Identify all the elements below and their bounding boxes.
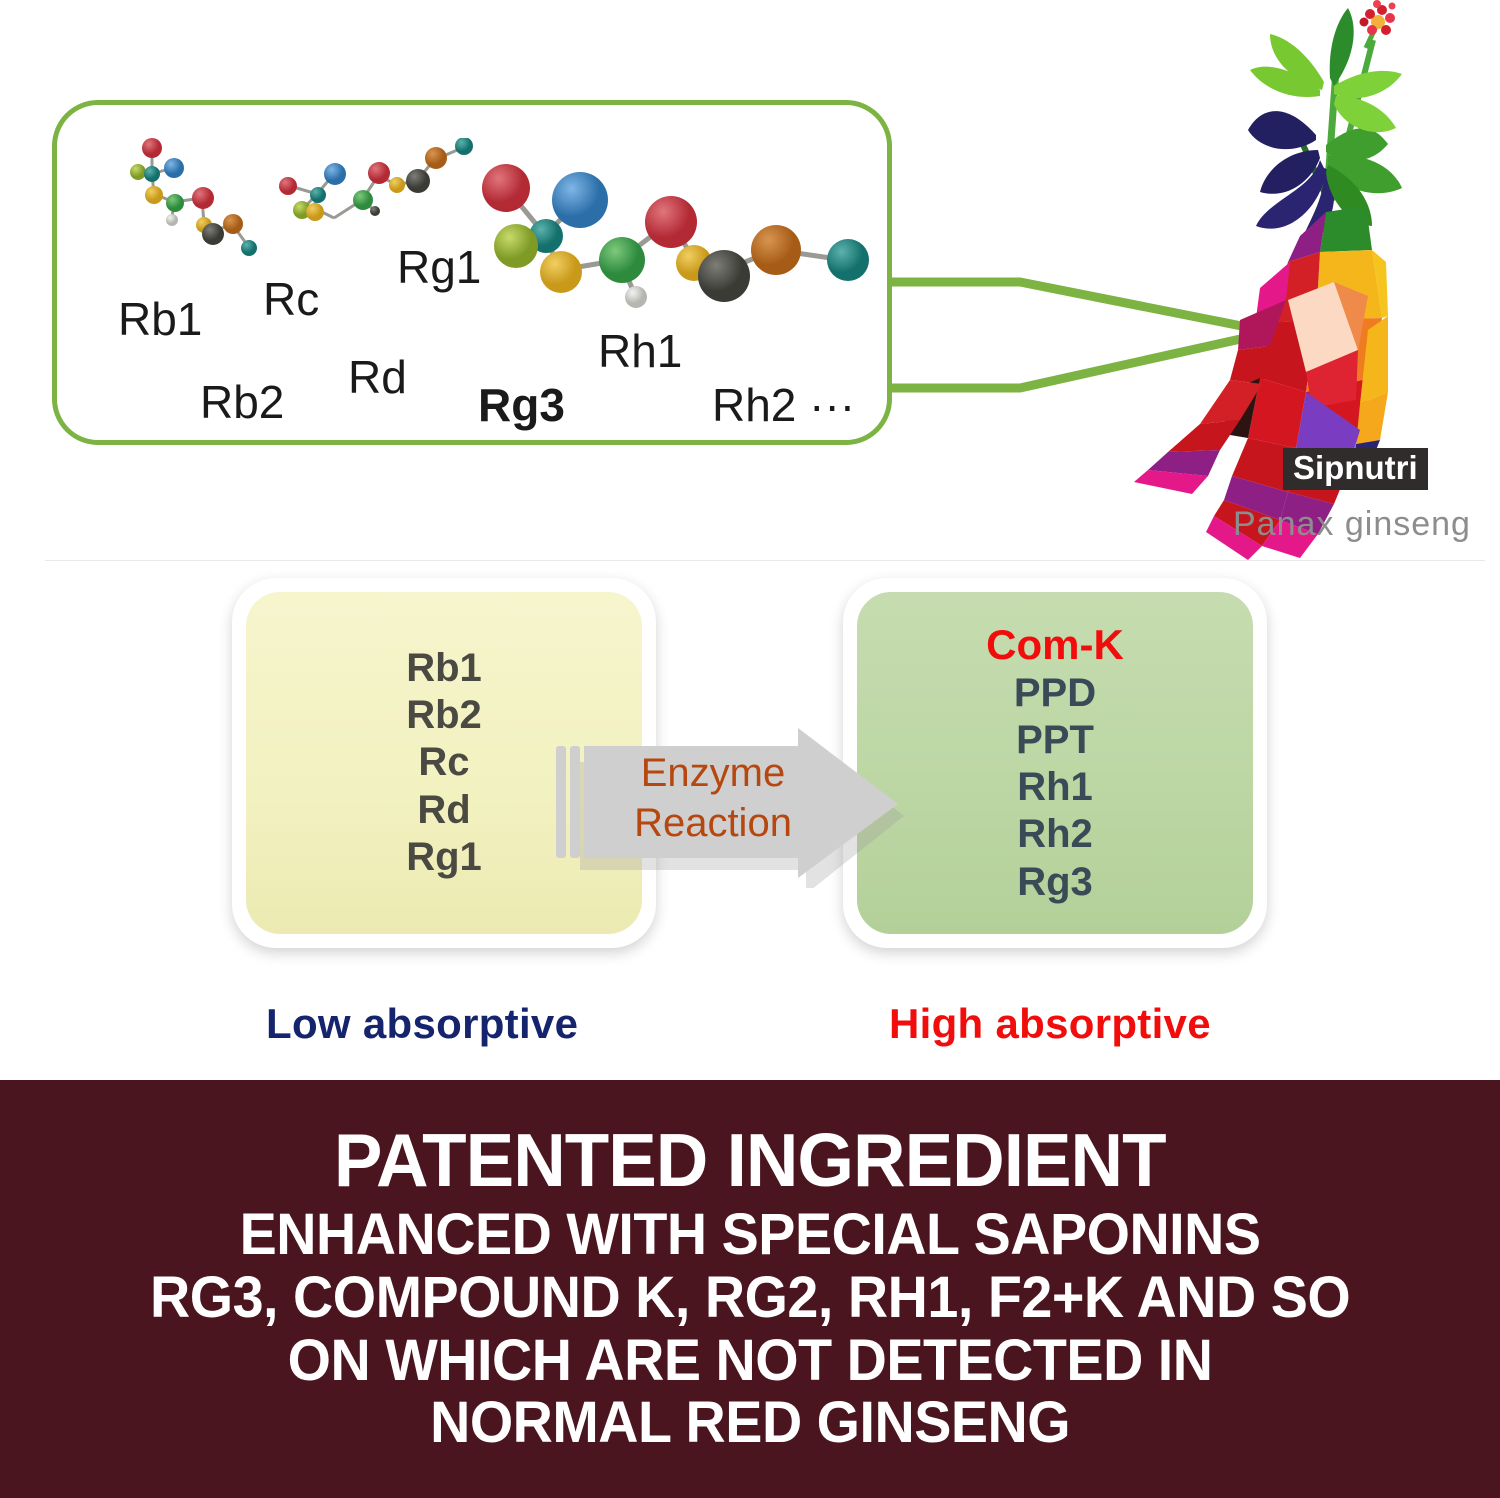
list-item: Rh1 <box>1017 764 1093 811</box>
callout-label-rd: Rd <box>348 350 407 404</box>
low-absorptive-caption: Low absorptive <box>266 1000 578 1048</box>
list-item: Rb2 <box>406 692 482 739</box>
high-absorptive-box-fill: Com-K PPD PPT Rh1 Rh2 Rg3 <box>857 592 1253 934</box>
species-name: Panax ginseng <box>1233 505 1471 544</box>
banner-sub-line-1: ENHANCED WITH SPECIAL SAPONINS <box>150 1204 1350 1267</box>
callout-label-rg3: Rg3 <box>478 378 565 432</box>
list-item-com-k: Com-K <box>986 620 1124 670</box>
molecule-rg3-icon <box>470 160 880 340</box>
list-item: Rg3 <box>1017 859 1093 906</box>
high-absorptive-caption: High absorptive <box>889 1000 1211 1048</box>
top-illustration-section: Rb1 Rc Rg1 Rh1 Rb2 Rd Rg3 Rh2 ··· <box>0 0 1500 1080</box>
banner-sub-line-4: NORMAL RED GINSENG <box>150 1392 1350 1455</box>
ginseng-infographic: Rb1 Rc Rg1 Rh1 Rb2 Rd Rg3 Rh2 ··· <box>0 0 1500 1498</box>
callout-label-rb2: Rb2 <box>200 375 284 429</box>
list-item: Rd <box>417 787 470 834</box>
callout-label-rh2: Rh2 ··· <box>712 378 855 432</box>
list-item: Rb1 <box>406 645 482 692</box>
banner-subheading: ENHANCED WITH SPECIAL SAPONINS RG3, COMP… <box>150 1204 1350 1455</box>
section-divider <box>45 560 1485 561</box>
high-absorptive-list: Com-K PPD PPT Rh1 Rh2 Rg3 <box>857 592 1253 934</box>
banner-sub-line-3: ON WHICH ARE NOT DETECTED IN <box>150 1330 1350 1393</box>
enzyme-reaction-line2: Reaction <box>598 798 828 848</box>
banner-heading: PATENTED INGREDIENT <box>334 1123 1166 1198</box>
enzyme-reaction-label: Enzyme Reaction <box>598 748 828 848</box>
molecule-rb1-icon <box>112 128 282 278</box>
enzyme-reaction-line1: Enzyme <box>598 748 828 798</box>
list-item: PPT <box>1016 717 1094 764</box>
list-item: Rc <box>418 739 469 786</box>
patented-ingredient-banner: PATENTED INGREDIENT ENHANCED WITH SPECIA… <box>0 1080 1500 1498</box>
list-item: Rg1 <box>406 834 482 881</box>
list-item: Rh2 <box>1017 811 1093 858</box>
callout-label-rg1: Rg1 <box>397 240 481 294</box>
callout-label-rh1: Rh1 <box>598 324 682 378</box>
list-item: PPD <box>1014 670 1096 717</box>
brand-badge: Sipnutri <box>1283 448 1428 490</box>
callout-label-rb1: Rb1 <box>118 292 202 346</box>
callout-label-rc: Rc <box>263 272 319 326</box>
banner-sub-line-2: RG3, COMPOUND K, RG2, RH1, F2+K AND SO <box>150 1267 1350 1330</box>
